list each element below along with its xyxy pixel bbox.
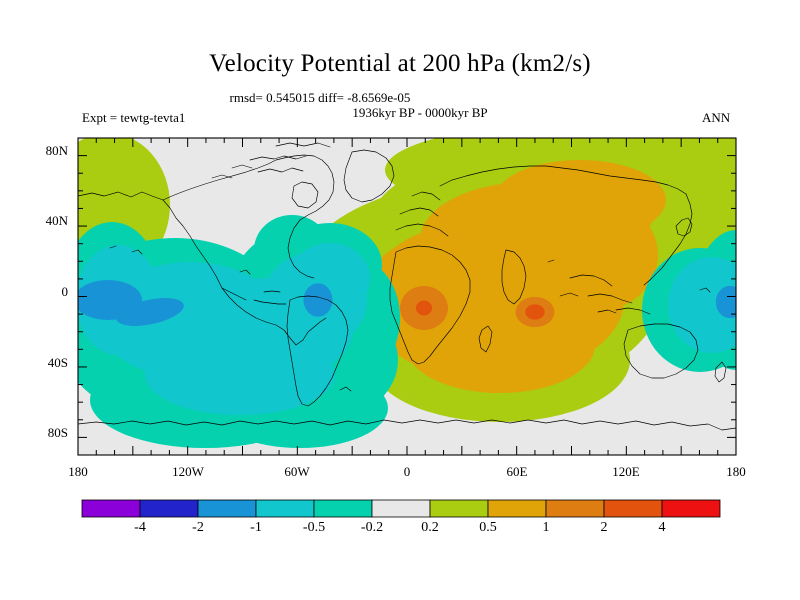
colorbar-swatch: [198, 500, 256, 517]
xlabel-180e: 180: [706, 464, 766, 480]
colorbar-tick-label: 0.5: [465, 520, 511, 536]
colorbar-swatch: [604, 500, 662, 517]
ylabel-80n: 80N: [22, 143, 68, 159]
ylabel-40n: 40N: [22, 213, 68, 229]
colorbar-swatch: [140, 500, 198, 517]
colorbar-tick-label: 0.2: [407, 520, 453, 536]
colorbar-tick-label: -1: [233, 520, 279, 536]
colorbar-swatch: [82, 500, 140, 517]
colorbar-tick-label: -2: [175, 520, 221, 536]
ylabel-80s: 80S: [22, 425, 68, 441]
colorbar-tick-label: 2: [581, 520, 627, 536]
ylabel-0: 0: [22, 284, 68, 300]
ylabel-40s: 40S: [22, 355, 68, 371]
colorbar-tick-label: 4: [639, 520, 685, 536]
colorbar-swatch: [372, 500, 430, 517]
colorbar-tick-label: 1: [523, 520, 569, 536]
colorbar-tick-label: -0.2: [349, 520, 395, 536]
colorbar-swatch: [314, 500, 372, 517]
colorbar-swatch: [546, 500, 604, 517]
colorbar-swatch: [430, 500, 488, 517]
colorbar-swatch: [488, 500, 546, 517]
colorbar-tick-label: -4: [117, 520, 163, 536]
colorbar-tick-label: -0.5: [291, 520, 337, 536]
xlabel-120w: 120W: [158, 464, 218, 480]
xlabel-120e: 120E: [596, 464, 656, 480]
xlabel-180w: 180: [48, 464, 108, 480]
xlabel-60w: 60W: [267, 464, 327, 480]
colorbar-swatch: [662, 500, 720, 517]
xlabel-60e: 60E: [487, 464, 547, 480]
colorbar-swatch: [256, 500, 314, 517]
xlabel-0: 0: [377, 464, 437, 480]
